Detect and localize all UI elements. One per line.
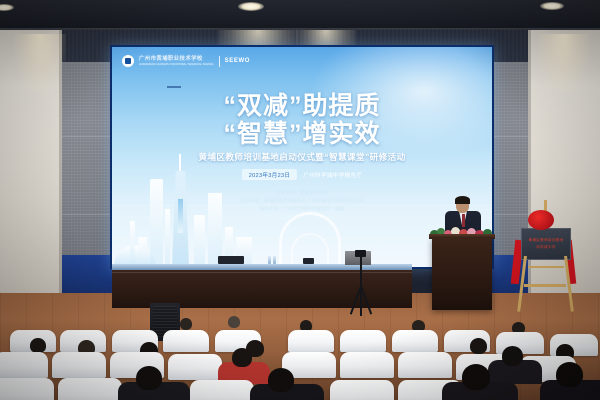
plaque-line-1: 黄埔区教师培训基地: [528, 238, 563, 243]
slide-fineprint: 主办单位：黄埔区教育局 承办单位：黄埔区教师发展中心 广州视睿电子科技有限公司 …: [112, 189, 492, 213]
slide-title-line-1: “双减”助提质: [112, 93, 492, 120]
panel-seam: [62, 136, 114, 137]
conference-hall-photo: 广州市黄埔职业技术学校 GUANGZHOU HUANGPU VOCATIONAL…: [0, 0, 600, 400]
attendee-head: [268, 368, 294, 392]
event-date-badge: 2023年3月23日: [242, 169, 298, 180]
chair: [52, 352, 106, 378]
attendee-head: [30, 338, 46, 353]
chair: [392, 330, 438, 352]
chair: [163, 330, 209, 352]
attendee-head: [136, 366, 162, 390]
fineprint-line: 主办单位：黄埔区教育局: [112, 189, 492, 197]
plaque-line-2: 科学城中学: [536, 245, 555, 250]
ceiling: [0, 0, 600, 30]
slide-meta-row: 2023年3月23日 广州科学城中学报告厅: [112, 169, 492, 180]
speaker-podium: [432, 238, 492, 310]
chair: [0, 378, 54, 400]
chair: [330, 380, 394, 400]
ceiling-light: [238, 2, 264, 11]
attendee-head: [228, 316, 240, 328]
attendee-head: [470, 338, 487, 354]
chair: [398, 352, 452, 378]
building: [130, 221, 135, 267]
wall-wash-light: [14, 34, 66, 92]
building: [138, 237, 147, 267]
partner-logo: SEEWO: [225, 58, 250, 64]
slide-logo-row: 广州市黄埔职业技术学校 GUANGZHOU HUANGPU VOCATIONAL…: [122, 55, 250, 67]
fineprint-line: 承办单位：黄埔区教师发展中心 广州视睿电子科技有限公司: [112, 197, 492, 205]
slide-subtitle: 黄埔区教师培训基地启动仪式暨“智慧课堂”研修活动: [112, 151, 492, 163]
building: [194, 215, 205, 267]
building: [165, 209, 170, 267]
event-venue-text: 广州科学城中学报告厅: [303, 171, 362, 179]
table-highlight: [112, 272, 412, 273]
chair: [340, 352, 394, 378]
slide-title-block: “双减”助提质 “智慧”增实效 黄埔区教师培训基地启动仪式暨“智慧课堂”研修活动: [112, 93, 492, 163]
ceiling-light: [540, 2, 564, 10]
school-name: 广州市黄埔职业技术学校 GUANGZHOU HUANGPU VOCATIONAL…: [139, 56, 214, 66]
fineprint-line: 协办单位：广州科学城中学报告厅 · 录播: [112, 205, 492, 213]
attendee-head: [462, 364, 490, 390]
chair: [168, 354, 222, 380]
chair: [288, 330, 334, 352]
wall-skirt-left: [62, 255, 114, 293]
wall-wash-light: [538, 34, 590, 92]
chair: [340, 330, 386, 352]
table-equipment: [303, 258, 314, 264]
slide-title-line-2: “智慧”增实效: [112, 121, 492, 148]
presenter-hair: [455, 196, 470, 204]
water-bottle: [268, 256, 271, 264]
tripod-leg: [360, 286, 362, 316]
chair: [190, 380, 254, 400]
school-emblem-icon: [122, 55, 134, 67]
easel-crossbar: [524, 284, 566, 287]
water-bottle: [273, 256, 276, 264]
logo-divider: [219, 56, 220, 67]
table-equipment: [218, 256, 244, 264]
attendee-head: [232, 348, 252, 367]
chair: [58, 378, 122, 400]
attendee-head: [556, 362, 583, 387]
attendee-head: [502, 346, 523, 366]
red-ribbon-rosette: [528, 210, 554, 230]
chair: [0, 352, 48, 378]
slide-accent-dash: [167, 86, 181, 88]
panel-seam: [62, 214, 114, 215]
easel-crossbar: [528, 266, 564, 268]
attendee-head: [180, 318, 192, 330]
